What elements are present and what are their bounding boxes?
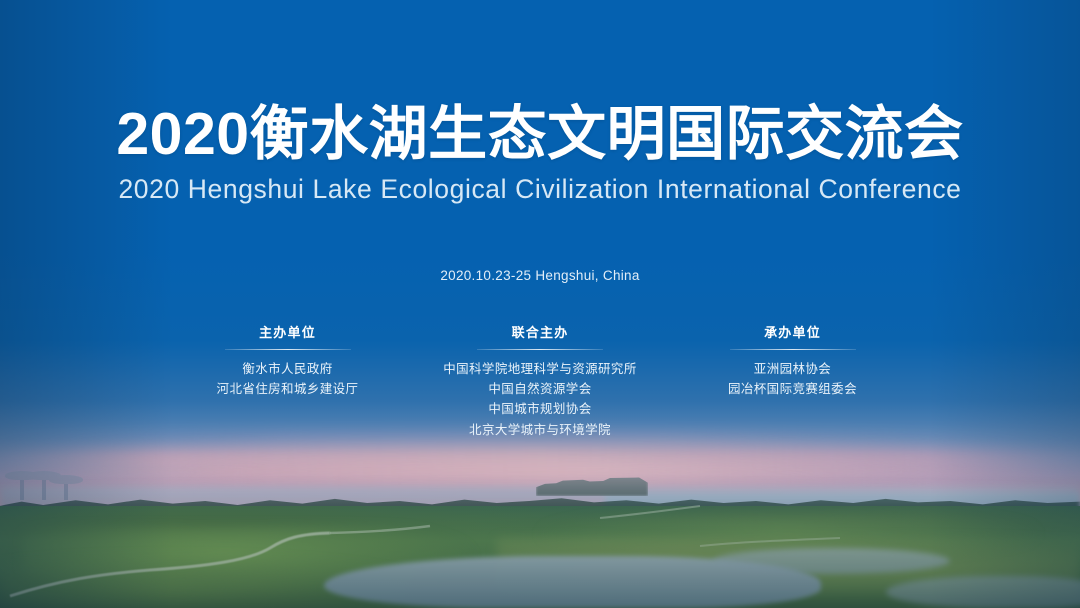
organizer-column-co-host: 联合主办 中国科学院地理科学与资源研究所 中国自然资源学会 中国城市规划协会 北…	[408, 325, 673, 440]
organizer-list: 衡水市人民政府 河北省住房和城乡建设厅	[168, 359, 408, 400]
list-item: 衡水市人民政府	[168, 359, 408, 379]
organizer-list: 亚洲园林协会 园冶杯国际竞赛组委会	[673, 359, 913, 400]
list-item: 中国科学院地理科学与资源研究所	[408, 359, 673, 379]
divider-line	[225, 349, 351, 350]
list-item: 园冶杯国际竞赛组委会	[673, 379, 913, 399]
organizer-heading: 承办单位	[673, 325, 913, 342]
list-item: 北京大学城市与环境学院	[408, 420, 673, 440]
organizers-section: 主办单位 衡水市人民政府 河北省住房和城乡建设厅 联合主办 中国科学院地理科学与…	[0, 325, 1080, 440]
organizer-heading: 联合主办	[408, 325, 673, 342]
conference-poster: 2020衡水湖生态文明国际交流会 2020 Hengshui Lake Ecol…	[0, 0, 1080, 608]
organizer-column-organizer: 承办单位 亚洲园林协会 园冶杯国际竞赛组委会	[673, 325, 913, 399]
list-item: 河北省住房和城乡建设厅	[168, 379, 408, 399]
list-item: 亚洲园林协会	[673, 359, 913, 379]
list-item: 中国城市规划协会	[408, 399, 673, 419]
list-item: 中国自然资源学会	[408, 379, 673, 399]
page-title: 2020衡水湖生态文明国际交流会	[0, 103, 1080, 167]
organizer-list: 中国科学院地理科学与资源研究所 中国自然资源学会 中国城市规划协会 北京大学城市…	[408, 359, 673, 440]
divider-line	[477, 349, 603, 350]
organizer-column-host: 主办单位 衡水市人民政府 河北省住房和城乡建设厅	[168, 325, 408, 399]
divider-line	[730, 349, 856, 350]
organizer-heading: 主办单位	[168, 325, 408, 342]
page-subtitle: 2020 Hengshui Lake Ecological Civilizati…	[0, 174, 1080, 205]
date-location-text: 2020.10.23-25 Hengshui, China	[0, 268, 1080, 283]
poster-content: 2020衡水湖生态文明国际交流会 2020 Hengshui Lake Ecol…	[0, 0, 1080, 608]
